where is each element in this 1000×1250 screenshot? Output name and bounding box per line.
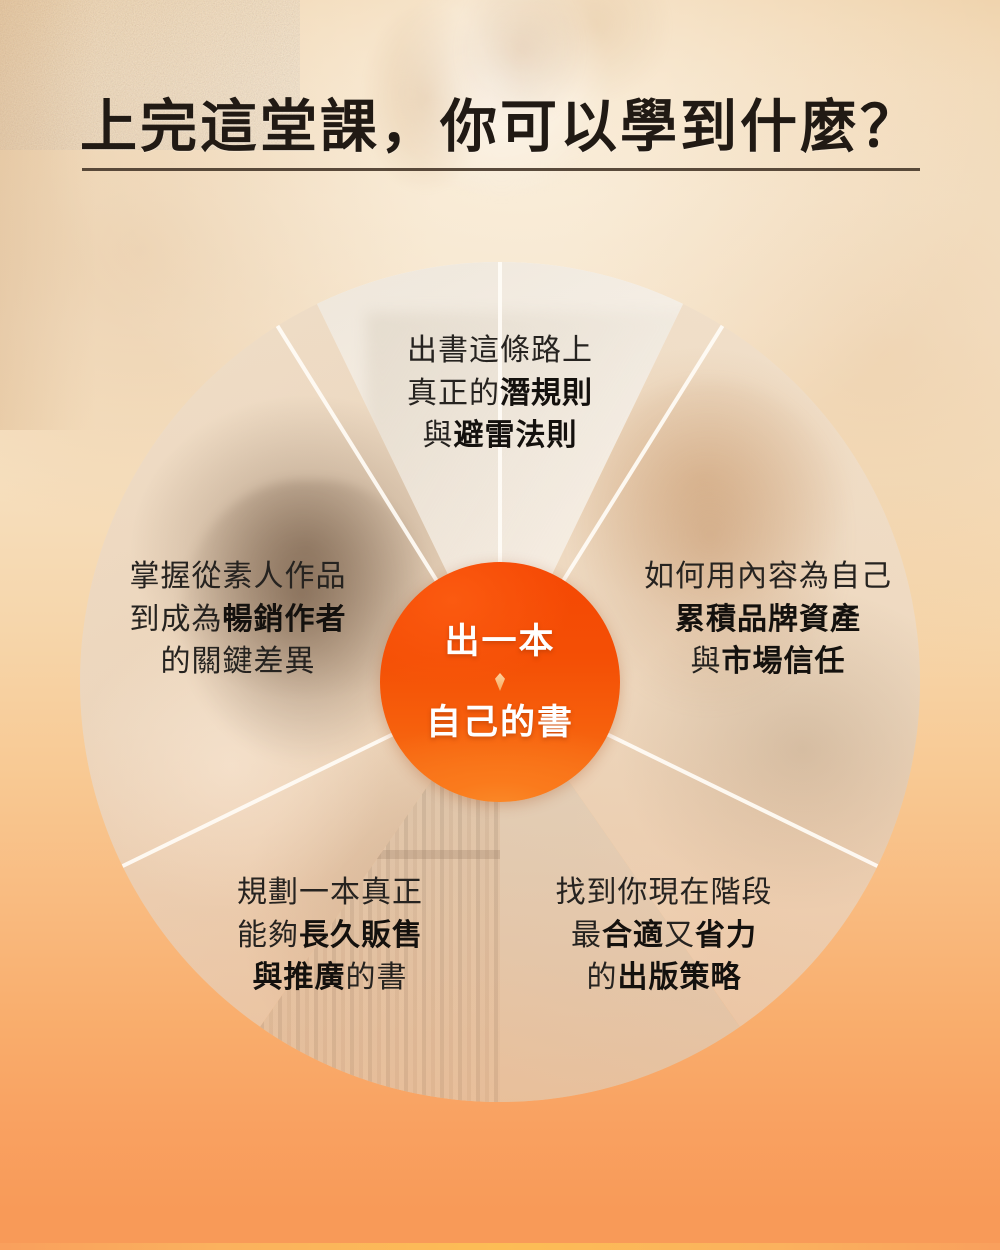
infographic-page: 上完這堂課，你可以學到什麼？ 出一本 自己的書 出書這條路上真正的潛規則與避雷法… [0,0,1000,1250]
wheel-hub[interactable]: 出一本 自己的書 [380,562,620,802]
title-underline [82,168,920,171]
benefits-wheel: 出一本 自己的書 [80,262,920,1102]
hub-line-1: 出一本 [444,624,555,659]
hub-line-2: 自己的書 [426,705,574,740]
diamond-icon [495,673,505,691]
page-title-container: 上完這堂課，你可以學到什麼？ [0,96,1000,168]
page-title: 上完這堂課，你可以學到什麼？ [74,96,926,168]
bottom-accent-strip [0,1243,1000,1250]
